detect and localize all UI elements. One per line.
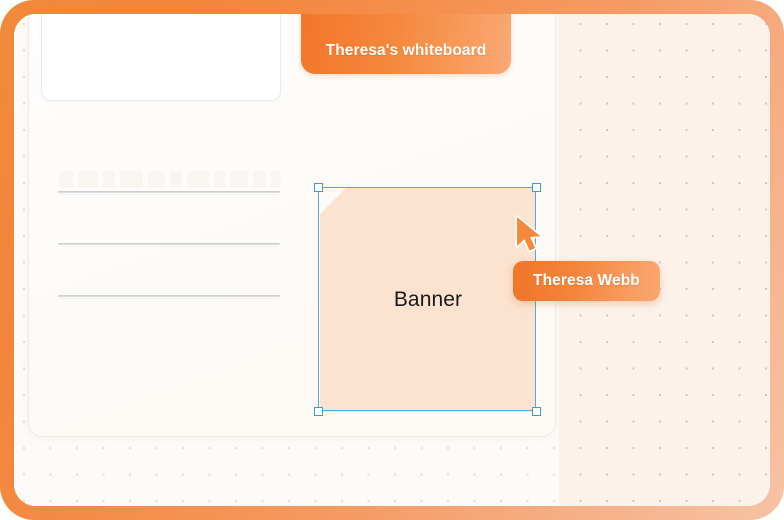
whiteboard-title: Theresa's whiteboard — [326, 42, 487, 60]
ghost-block — [271, 171, 281, 188]
resize-handle-bottom-right[interactable] — [532, 407, 541, 416]
ghost-block — [78, 171, 98, 188]
resize-handle-top-right[interactable] — [532, 183, 541, 192]
ghost-block — [214, 171, 225, 188]
app-frame: Banner Theresa's whiteboard Theresa Webb — [0, 0, 784, 520]
collaborator-name-pill: Theresa Webb — [513, 261, 660, 301]
frame-inner: Banner Theresa's whiteboard Theresa Webb — [14, 14, 770, 506]
selection-outline — [318, 187, 536, 411]
ghost-block — [148, 171, 164, 188]
ghost-block — [103, 171, 115, 188]
text-placeholder-ghost — [59, 171, 281, 188]
divider-line — [58, 295, 280, 297]
ghost-block — [230, 171, 248, 188]
whiteboard-screenshot: Banner Theresa's whiteboard Theresa Webb — [0, 0, 784, 520]
collaborator-name: Theresa Webb — [533, 272, 640, 290]
ghost-block — [253, 171, 267, 188]
ghost-block — [59, 171, 73, 188]
ghost-block — [187, 171, 209, 188]
whiteboard-title-pill[interactable]: Theresa's whiteboard — [301, 14, 511, 74]
empty-card[interactable] — [41, 14, 281, 101]
divider-line — [58, 191, 280, 193]
divider-line — [58, 243, 280, 245]
ghost-block — [120, 171, 143, 188]
resize-handle-bottom-left[interactable] — [314, 407, 323, 416]
resize-handle-top-left[interactable] — [314, 183, 323, 192]
ghost-block — [170, 171, 183, 188]
